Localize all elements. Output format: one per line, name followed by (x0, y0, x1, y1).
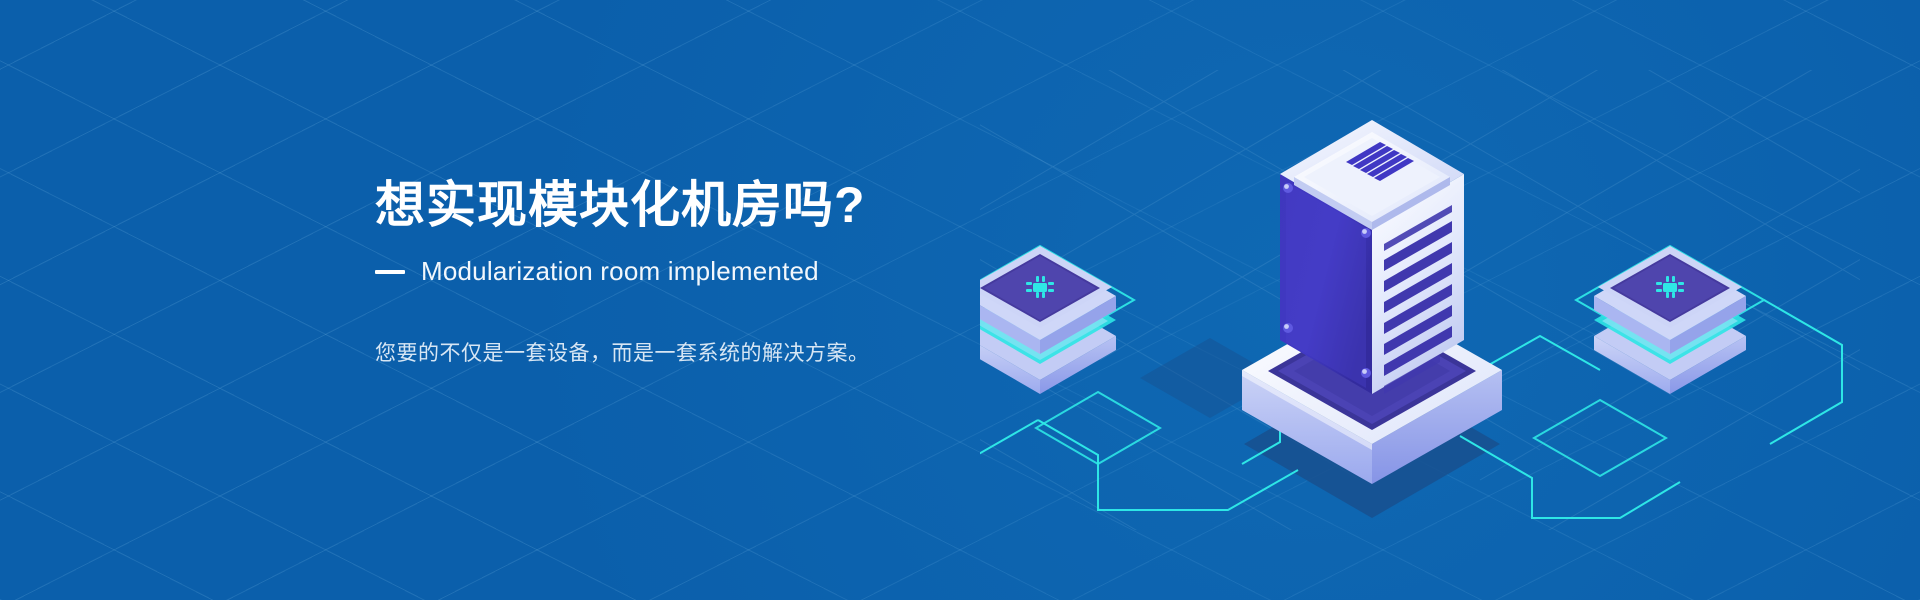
chip-module-right (1594, 246, 1746, 394)
subtitle-text: Modularization room implemented (421, 256, 819, 287)
server-tower (1280, 120, 1464, 394)
hero-banner: 想实现模块化机房吗? Modularization room implement… (0, 0, 1920, 600)
dash-icon (375, 270, 405, 274)
isometric-data-center-illustration (980, 70, 1860, 530)
